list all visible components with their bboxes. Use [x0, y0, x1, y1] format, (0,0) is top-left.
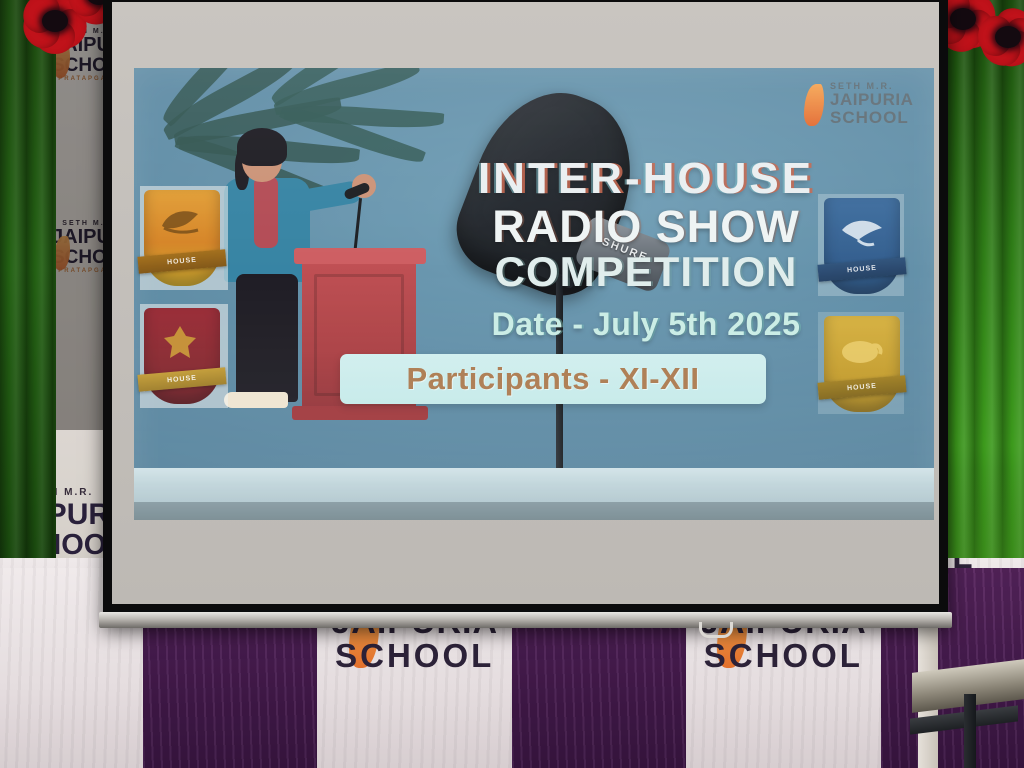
projected-slide: SHURE HOUSE: [134, 68, 934, 520]
archer-emblem-icon: [158, 322, 206, 364]
slide-school-logo: SETH M.R. JAIPURIA SCHOOL: [804, 82, 924, 127]
eagle-emblem-icon: [158, 204, 206, 246]
flame-icon: [804, 84, 824, 126]
slide-title-inter-house: INTER-HOUSE: [366, 154, 926, 204]
slide-logo-jaipuria: JAIPURIA: [830, 91, 924, 109]
participants-label: Participants - XI-XII: [406, 361, 699, 397]
slide-floor: [134, 502, 934, 520]
slide-logo-school: SCHOOL: [830, 109, 924, 127]
screen-surface: SHURE HOUSE: [112, 2, 939, 604]
decorative-flower-icon: [978, 10, 1024, 64]
projector-screen: SHURE HOUSE: [103, 0, 948, 626]
side-table-leg: [964, 694, 976, 768]
slide-title-radio-show: RADIO SHOW: [366, 204, 926, 250]
screen-bottom-bar: [99, 612, 952, 628]
auditorium-photo: SETH M.R. JAIPURIA SCHOOL PRATAPGARH SET…: [0, 0, 1024, 768]
backdrop-school: SCHOOL: [686, 639, 881, 672]
slide-date: Date - July 5th 2025: [366, 306, 926, 343]
house-crest-orange: HOUSE: [144, 190, 220, 286]
screen-hook: [699, 622, 733, 638]
slide-title-competition: COMPETITION: [366, 250, 926, 294]
backdrop-school: SCHOOL: [317, 639, 512, 672]
participants-band: Participants - XI-XII: [340, 354, 766, 404]
house-crest-maroon: HOUSE: [144, 308, 220, 404]
slide-text-block: INTER-HOUSE RADIO SHOW COMPETITION Date …: [366, 154, 926, 343]
